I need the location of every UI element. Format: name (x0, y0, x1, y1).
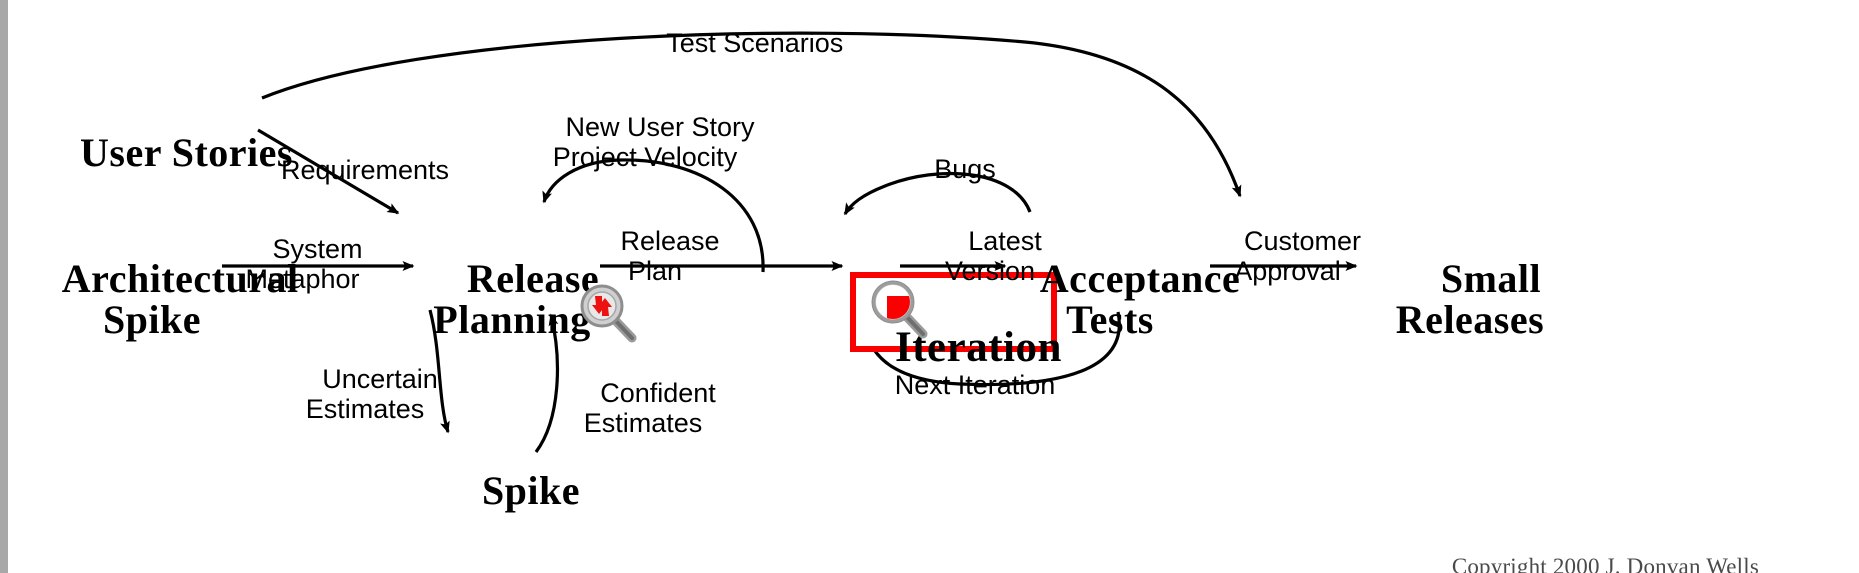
edge-label-customer-approval: Customer Approval (1205, 196, 1370, 317)
edge-label-requirements: Requirements (215, 125, 485, 216)
diagram-canvas: User Stories Architectural Spike Release… (0, 0, 1859, 573)
edge-label-uncertain-estimates-text: Uncertain Estimates (306, 364, 438, 424)
copyright-text: Copyright 2000 J. Donvan Wells (1452, 554, 1759, 573)
edge-label-next-iteration: Next Iteration (845, 340, 1075, 431)
edge-label-uncertain-estimates: Uncertain Estimates (275, 334, 455, 455)
magnifier-zoom-icon[interactable] (869, 279, 931, 341)
edge-label-test-scenarios-text: Test Scenarios (666, 28, 843, 58)
node-spike-label: Spike (482, 468, 580, 513)
node-small-releases[interactable]: Small Releases (1360, 218, 1580, 381)
edge-label-confident-estimates-text: Confident Estimates (584, 378, 716, 438)
magnifier-handle-icon (614, 319, 632, 338)
edge-label-release-plan-text: Release Plan (620, 226, 719, 286)
edge-label-next-iteration-text: Next Iteration (895, 370, 1056, 400)
edge-label-new-user-story-text: New User Story Project Velocity (553, 112, 755, 172)
edge-label-test-scenarios: Test Scenarios (590, 0, 890, 89)
magnifier-handle-icon (905, 315, 923, 334)
edge-label-bugs-text: Bugs (934, 154, 996, 184)
magnifier-refresh-icon[interactable] (578, 283, 640, 345)
edge-label-confident-estimates: Confident Estimates (548, 348, 738, 469)
copyright-notice: Copyright 2000 J. Donvan Wells (1428, 528, 1759, 573)
edge-label-latest-version-text: Latest Version (945, 226, 1042, 286)
node-small-releases-label: Small Releases (1396, 256, 1544, 342)
edge-label-requirements-text: Requirements (281, 155, 449, 185)
edge-label-system-metaphor-text: System Metaphor (245, 234, 362, 294)
edge-label-new-user-story: New User Story Project Velocity (500, 82, 790, 203)
edge-label-customer-approval-text: Customer Approval (1234, 226, 1361, 286)
edge-label-system-metaphor: System Metaphor (210, 204, 395, 325)
